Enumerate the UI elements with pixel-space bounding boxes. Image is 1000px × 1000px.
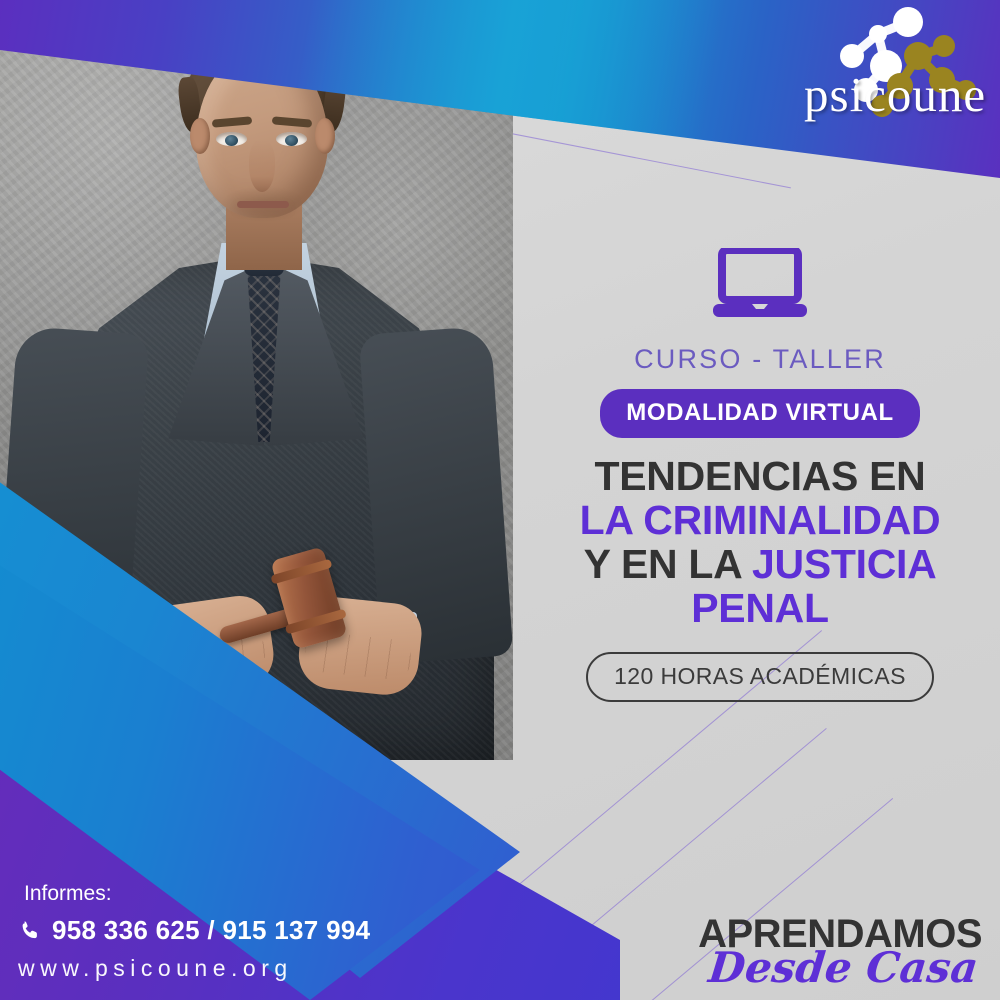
course-info-panel: CURSO - TALLER MODALIDAD VIRTUAL TENDENC… bbox=[545, 248, 975, 702]
logo-wordmark: psicoune bbox=[804, 66, 986, 123]
title-line-1: TENDENCIAS EN bbox=[545, 455, 975, 499]
title-line-3-dark: Y EN LA bbox=[584, 541, 752, 587]
title-line-4: PENAL bbox=[545, 587, 975, 631]
promo-poster: psicoune CURSO - TALLER MODALIDAD VIRTUA… bbox=[0, 0, 1000, 1000]
title-line-3-accent: JUSTICIA bbox=[752, 541, 936, 587]
website-url[interactable]: www.psicoune.org bbox=[18, 955, 370, 982]
modality-badge: MODALIDAD VIRTUAL bbox=[600, 389, 920, 438]
phone-icon bbox=[18, 919, 42, 943]
laptop-icon bbox=[713, 248, 807, 318]
title-line-3: Y EN LA JUSTICIA bbox=[545, 543, 975, 587]
phone-line[interactable]: 958 336 625 / 915 137 994 bbox=[18, 915, 370, 946]
hours-badge: 120 HORAS ACADÉMICAS bbox=[586, 652, 934, 702]
course-kicker: CURSO - TALLER bbox=[545, 344, 975, 375]
contact-block: Informes: 958 336 625 / 915 137 994 www.… bbox=[18, 882, 370, 982]
brand-logo[interactable]: psicoune bbox=[790, 4, 990, 124]
title-line-2: LA CRIMINALIDAD bbox=[545, 499, 975, 543]
contact-label: Informes: bbox=[24, 882, 370, 906]
course-title: TENDENCIAS EN LA CRIMINALIDAD Y EN LA JU… bbox=[545, 455, 975, 630]
phone-numbers: 958 336 625 / 915 137 994 bbox=[52, 915, 370, 946]
tagline-block: APRENDAMOS Desde Casa bbox=[698, 914, 982, 988]
tagline-line-2: Desde Casa bbox=[696, 948, 980, 988]
